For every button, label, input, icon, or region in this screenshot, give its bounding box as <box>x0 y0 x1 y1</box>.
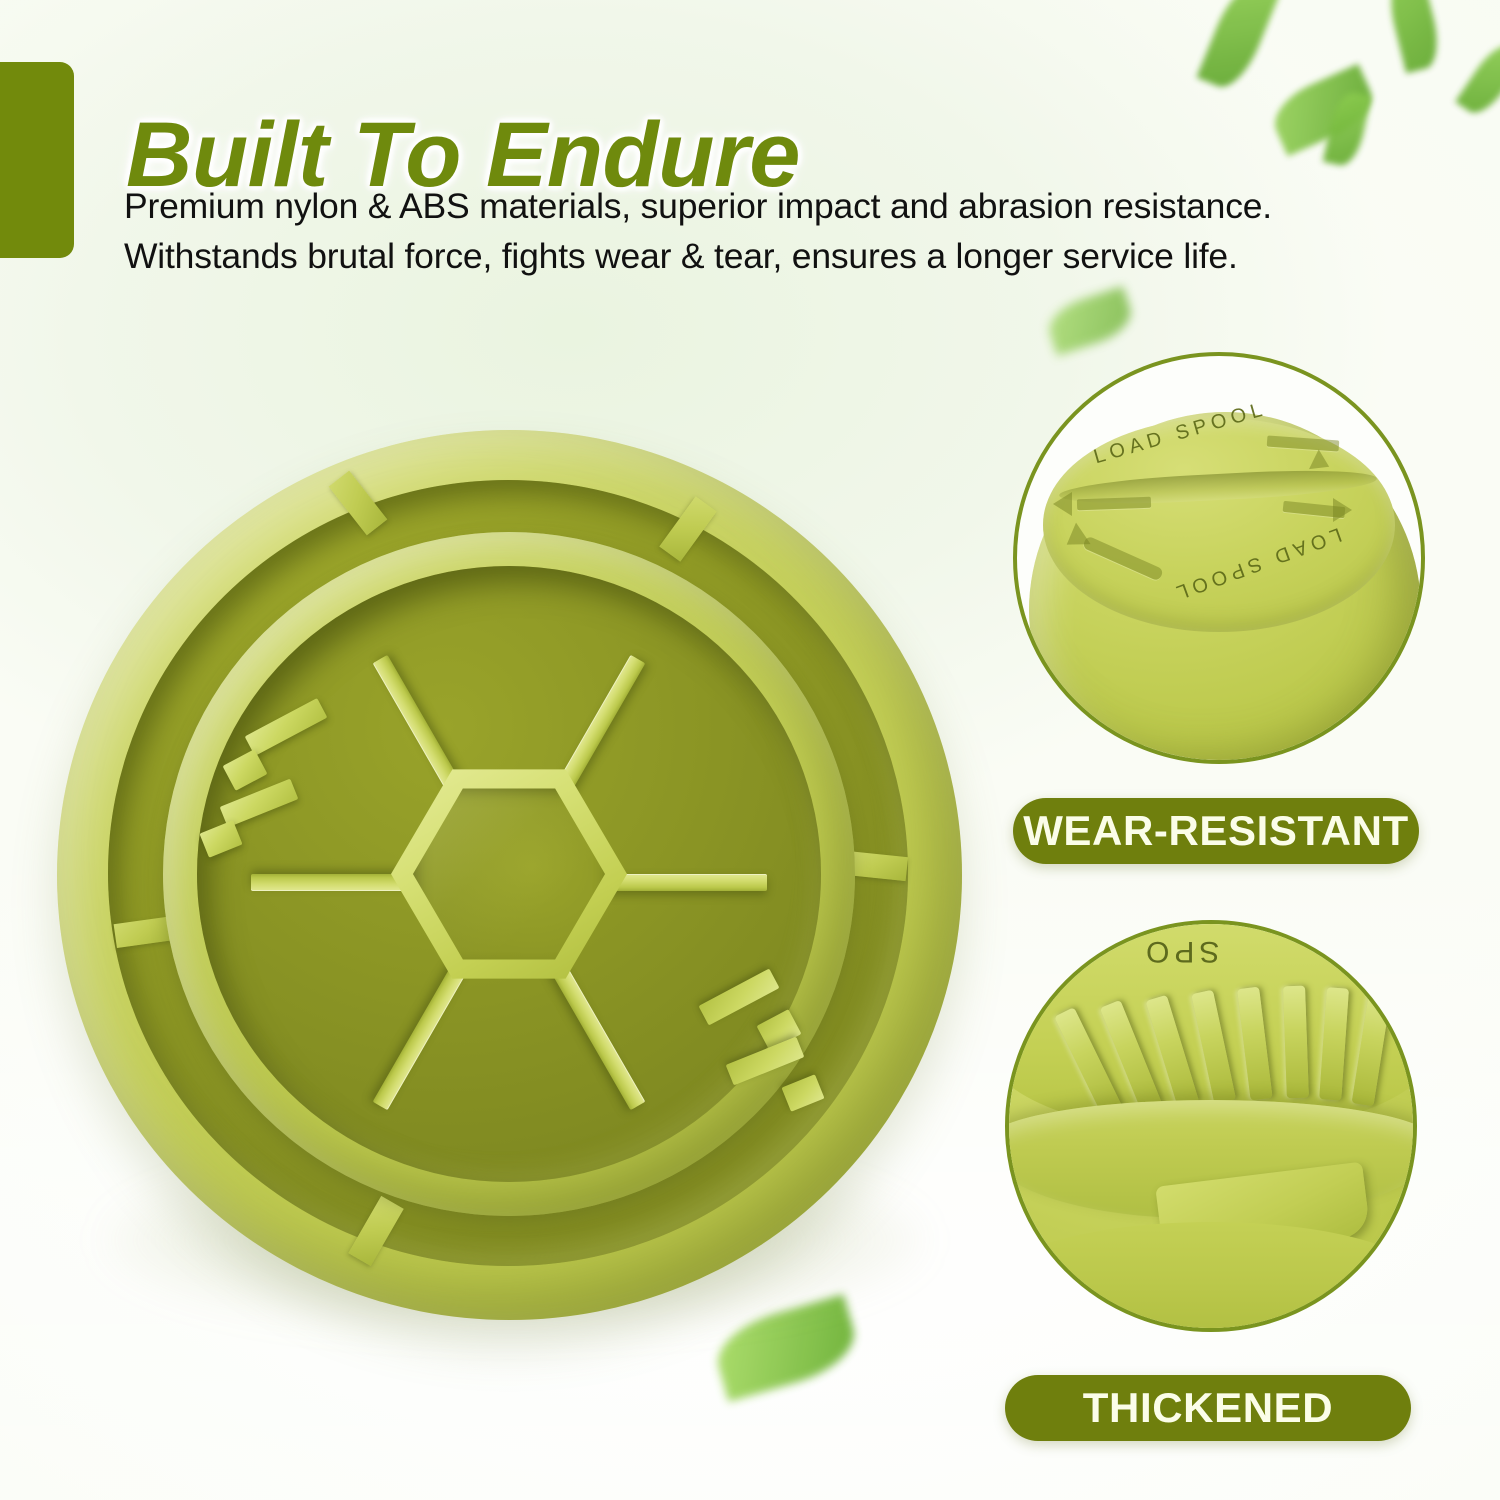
badge-thickened[interactable]: THICKENED <box>1005 1375 1411 1441</box>
inset-thickened: SPO <box>1005 920 1417 1332</box>
header-accent-bar <box>0 62 74 258</box>
cap-arrowhead-left-icon <box>1053 492 1072 516</box>
cap-arrowhead-right-lower-icon <box>1333 498 1352 522</box>
subtitle-line-1: Premium nylon & ABS materials, superior … <box>124 182 1464 232</box>
product-image-main <box>45 420 980 1340</box>
subtitle-line-2: Withstands brutal force, fights wear & t… <box>124 232 1464 282</box>
inset-wear-resistant: LOAD SPOOL LOAD SPOOL <box>1013 352 1425 764</box>
thickened-rib <box>1283 986 1309 1099</box>
thickened-lower-surface <box>1005 1222 1417 1332</box>
thickened-embossed-text: SPO <box>1141 934 1219 968</box>
page-subtitle: Premium nylon & ABS materials, superior … <box>124 182 1464 281</box>
product-spokes-group <box>163 532 855 1216</box>
badge-wear-resistant[interactable]: WEAR-RESISTANT <box>1013 798 1419 864</box>
